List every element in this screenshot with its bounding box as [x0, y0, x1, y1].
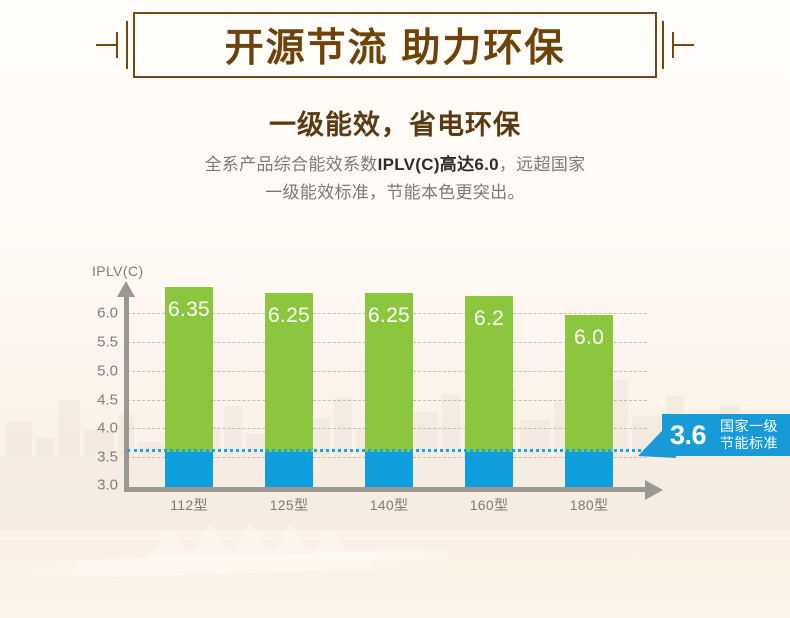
y-tick-label-3: 4.5	[84, 392, 118, 409]
y-tick-label-5: 3.5	[84, 449, 118, 466]
bar-180: 6.0	[565, 315, 613, 487]
iplv-bar-chart: IPLV(C) 6.0 5.5 5.0 4.5 4.0 3.5 3.0 6.35…	[0, 0, 790, 618]
x-axis-line	[124, 487, 647, 492]
badge-label-line-2: 节能标准	[720, 435, 778, 452]
bar-140-value-label: 6.25	[365, 304, 413, 328]
threshold-callout-badge: 3.6 国家一级 节能标准	[662, 414, 790, 456]
y-tick-label-6: 3.0	[84, 477, 118, 494]
y-axis-arrow-icon	[117, 281, 135, 297]
bar-125-blue-segment	[265, 452, 313, 487]
y-tick-label-1: 5.5	[84, 334, 118, 351]
bar-112: 6.35	[165, 287, 213, 487]
bar-160: 6.2	[465, 296, 513, 487]
y-tick-label-2: 5.0	[84, 363, 118, 380]
bar-140-blue-segment	[365, 452, 413, 487]
bar-112-value-label: 6.35	[165, 298, 213, 322]
bar-112-blue-segment	[165, 452, 213, 487]
bar-160-blue-segment	[465, 452, 513, 487]
badge-label: 国家一级 节能标准	[720, 418, 778, 452]
y-axis-title: IPLV(C)	[92, 263, 144, 279]
bar-180-blue-segment	[565, 452, 613, 487]
badge-label-line-1: 国家一级	[720, 418, 778, 435]
x-tick-label-0: 112型	[144, 495, 234, 515]
threshold-line-3-6	[127, 449, 672, 452]
y-axis-line	[124, 295, 129, 489]
x-tick-label-3: 160型	[444, 495, 534, 515]
x-tick-label-1: 125型	[244, 495, 334, 515]
bar-160-value-label: 6.2	[465, 307, 513, 331]
x-axis-arrow-icon	[645, 480, 663, 500]
y-tick-label-0: 6.0	[84, 305, 118, 322]
page-root: 开源节流 助力环保 一级能效，省电环保 全系产品综合能效系数IPLV(C)高达6…	[0, 0, 790, 618]
bar-125-value-label: 6.25	[265, 304, 313, 328]
bar-125: 6.25	[265, 293, 313, 487]
bar-180-value-label: 6.0	[565, 326, 613, 350]
x-tick-label-4: 180型	[544, 495, 634, 515]
x-tick-label-2: 140型	[344, 495, 434, 515]
y-tick-label-4: 4.0	[84, 420, 118, 437]
bar-140: 6.25	[365, 293, 413, 487]
badge-value: 3.6	[670, 419, 706, 451]
